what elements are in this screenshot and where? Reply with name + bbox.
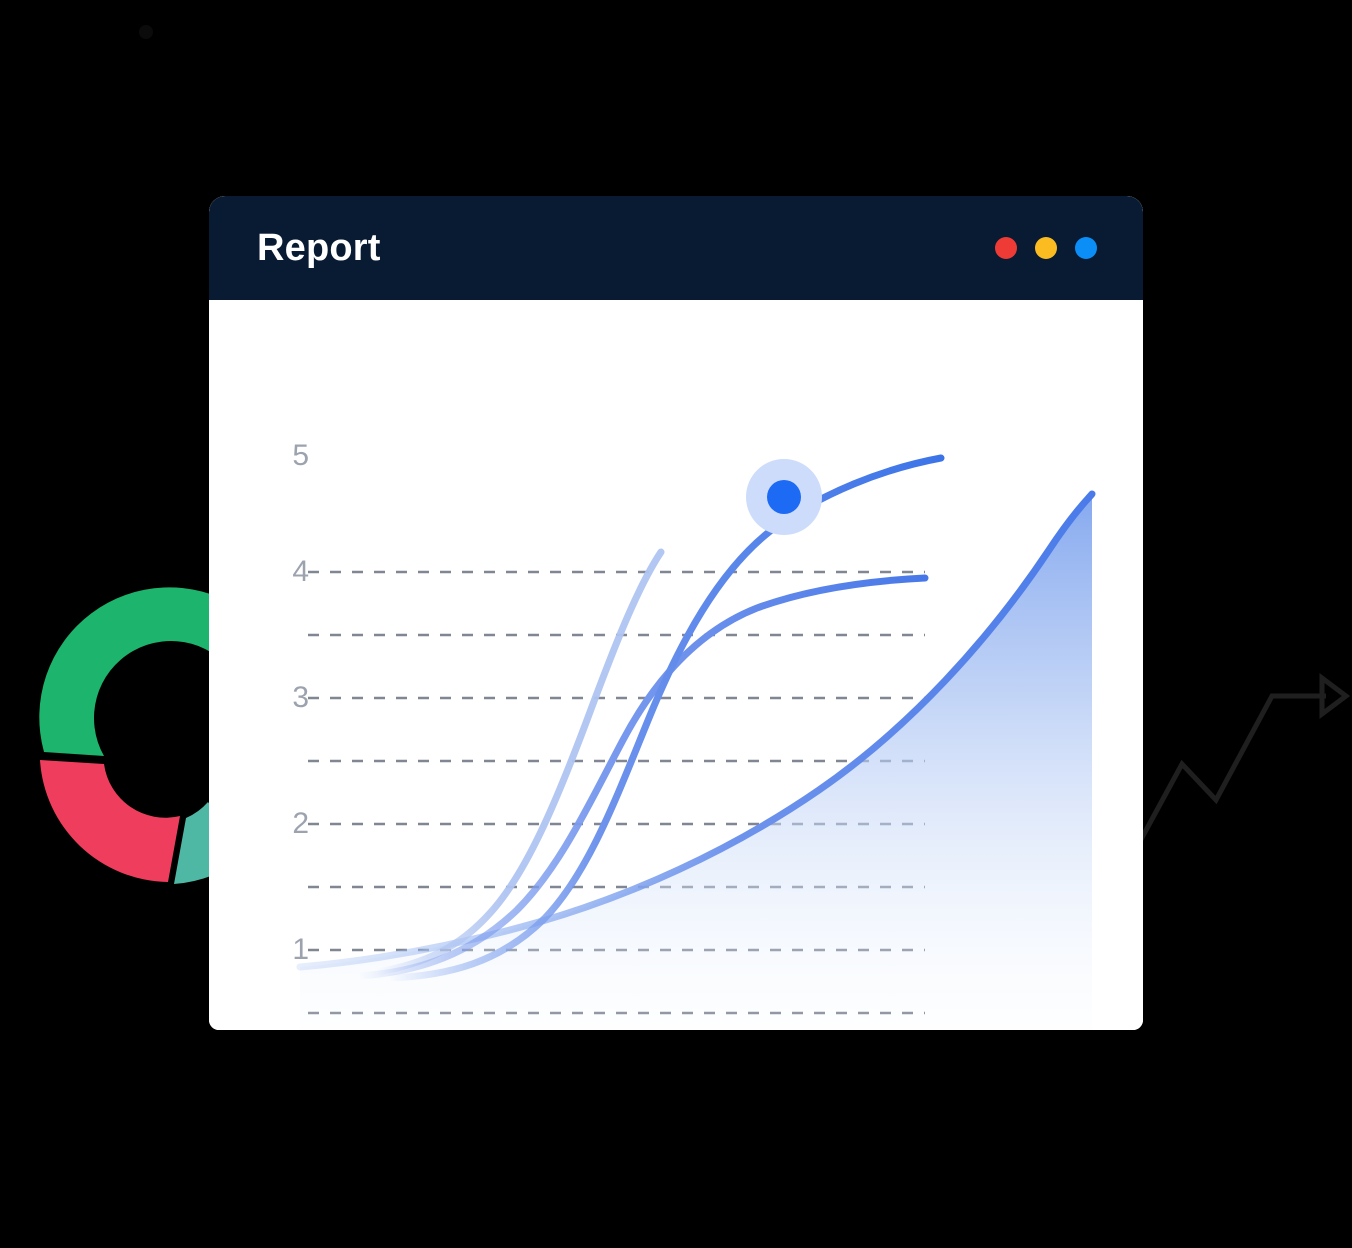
- y-tick-3: 3: [269, 683, 309, 713]
- y-axis: 5 4 3 2 1 0: [249, 300, 309, 1030]
- minimize-button[interactable]: [1035, 237, 1057, 259]
- page-title: Report: [257, 229, 381, 267]
- chart-plot-area: 5 4 3 2 1 0 5Minute 10Minute 15Minute: [209, 300, 1143, 1030]
- trend-arrow-icon: [1130, 660, 1352, 860]
- donut-red-segment: [40, 760, 180, 882]
- y-tick-5: 5: [269, 441, 309, 471]
- card-header: Report: [209, 196, 1143, 300]
- y-tick-4: 4: [269, 557, 309, 587]
- highlighted-data-point[interactable]: [746, 459, 822, 535]
- window-controls: [995, 237, 1097, 259]
- corner-dot-icon: [138, 24, 154, 40]
- maximize-button[interactable]: [1075, 237, 1097, 259]
- y-tick-1: 1: [269, 935, 309, 965]
- data-point-marker[interactable]: [767, 480, 801, 514]
- report-card: Report: [209, 196, 1143, 1030]
- close-button[interactable]: [995, 237, 1017, 259]
- line-chart: [209, 300, 1143, 1030]
- page-root: Report: [0, 0, 1352, 1248]
- y-tick-2: 2: [269, 809, 309, 839]
